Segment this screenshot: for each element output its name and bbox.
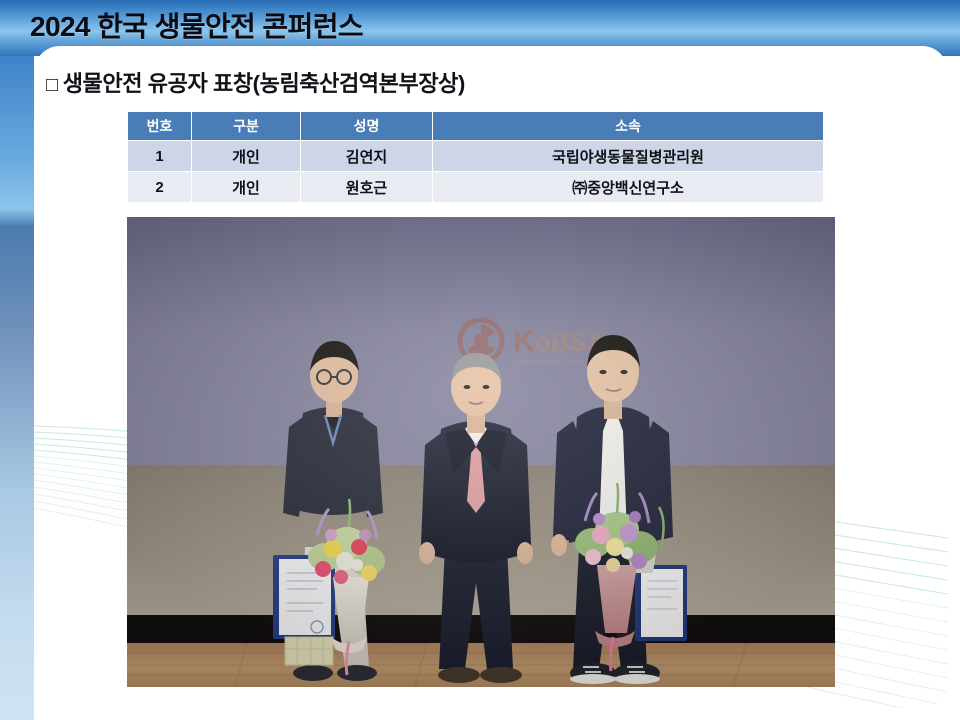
column-header-org: 소속 [433,112,824,141]
cell-name: 원호근 [301,172,433,203]
presentation-slide: 2024 한국 생물안전 콘퍼런스 [0,0,960,720]
bullet-square-icon: □ [46,74,58,96]
cell-name: 김연지 [301,141,433,172]
table-header-row: 번호 구분 성명 소속 [128,112,824,141]
cell-no: 1 [128,141,192,172]
left-accent-band [0,0,34,720]
slide-title: 2024 한국 생물안전 콘퍼런스 [30,8,363,46]
column-header-name: 성명 [301,112,433,141]
cell-type: 개인 [192,141,301,172]
column-header-type: 구분 [192,112,301,141]
table-row: 2 개인 원호근 ㈜중앙백신연구소 [128,172,824,203]
section-heading-text: 생물안전 유공자 표창(농림축산검역본부장상) [63,71,465,96]
cell-type: 개인 [192,172,301,203]
column-header-no: 번호 [128,112,192,141]
award-ceremony-photo-image: K oBSA Korea Biological Safety Associati… [127,217,835,687]
award-recipients-table: 번호 구분 성명 소속 1 개인 김연지 국립야생동물질병관리원 2 개인 원호… [127,111,824,203]
section-heading: □생물안전 유공자 표창(농림축산검역본부장상) [46,66,465,98]
cell-org: ㈜중앙백신연구소 [433,172,824,203]
cell-no: 2 [128,172,192,203]
slide-content-card: □생물안전 유공자 표창(농림축산검역본부장상) 번호 구분 성명 소속 1 개… [34,46,948,708]
award-ceremony-photo: K oBSA Korea Biological Safety Associati… [127,217,835,687]
cell-org: 국립야생동물질병관리원 [433,141,824,172]
table-row: 1 개인 김연지 국립야생동물질병관리원 [128,141,824,172]
